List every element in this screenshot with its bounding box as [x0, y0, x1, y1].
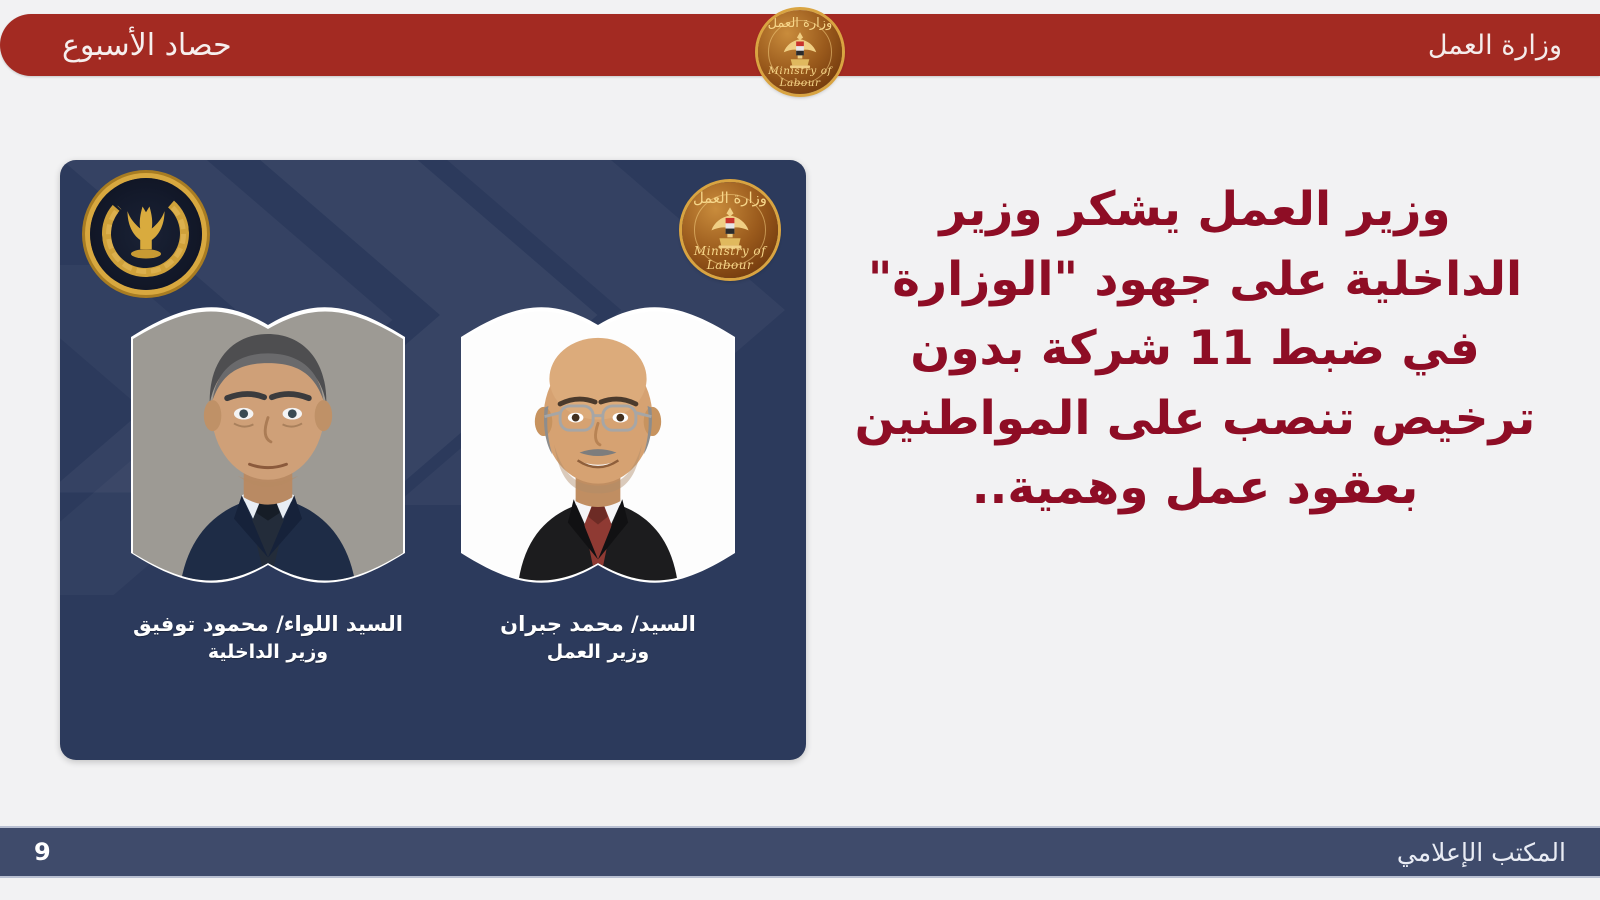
section-title: حصاد الأسبوع — [62, 14, 232, 76]
eagle-icon — [115, 201, 178, 270]
person-name: السيد/ محمد جبران — [500, 609, 696, 639]
seal-english-text: Ministry of Labour — [758, 65, 842, 89]
portrait-row: السيد/ محمد جبران وزير العمل — [60, 295, 806, 667]
eagle-icon — [781, 29, 820, 73]
frame-inner — [129, 299, 407, 591]
seal-arabic-text: وزارة العمل — [682, 189, 778, 207]
portrait-frame — [455, 295, 741, 595]
ministry-of-labour-seal-icon: وزارة العمل Ministry of Labour — [682, 182, 778, 278]
portrait-card: وزارة العمل Ministry of Labour — [60, 160, 806, 760]
ministry-of-labour-seal-icon: وزارة العمل Ministry of Labour — [758, 10, 842, 94]
person-role: وزير العمل — [500, 639, 696, 667]
slide-body: وزارة العمل Ministry of Labour — [0, 95, 1600, 810]
frame-inner — [459, 299, 737, 591]
page-header: وزارة العمل حصاد الأسبوع وزارة العمل Min… — [0, 14, 1600, 76]
ministry-of-interior-emblem-icon — [90, 178, 202, 290]
portrait-mahmoud-tawfik — [129, 299, 407, 591]
person-role: وزير الداخلية — [133, 639, 403, 667]
page-footer: المكتب الإعلامي 9 — [0, 826, 1600, 878]
person-card: السيد اللواء/ محمود توفيق وزير الداخلية — [123, 295, 413, 667]
seal-arabic-text: وزارة العمل — [758, 16, 842, 31]
person-caption: السيد اللواء/ محمود توفيق وزير الداخلية — [133, 609, 403, 667]
page-number: 9 — [34, 838, 51, 866]
media-office-label: المكتب الإعلامي — [1397, 838, 1566, 867]
eagle-icon — [708, 204, 752, 254]
portrait-mohamed-gebran — [459, 299, 737, 591]
person-caption: السيد/ محمد جبران وزير العمل — [500, 609, 696, 667]
ministry-title: وزارة العمل — [1428, 14, 1562, 76]
seal-english-text: Ministry of Labour — [682, 244, 778, 272]
person-card: السيد/ محمد جبران وزير العمل — [453, 295, 743, 667]
headline-text: وزير العمل يشكر وزير الداخلية على جهود "… — [850, 175, 1540, 523]
person-name: السيد اللواء/ محمود توفيق — [133, 609, 403, 639]
portrait-frame — [125, 295, 411, 595]
